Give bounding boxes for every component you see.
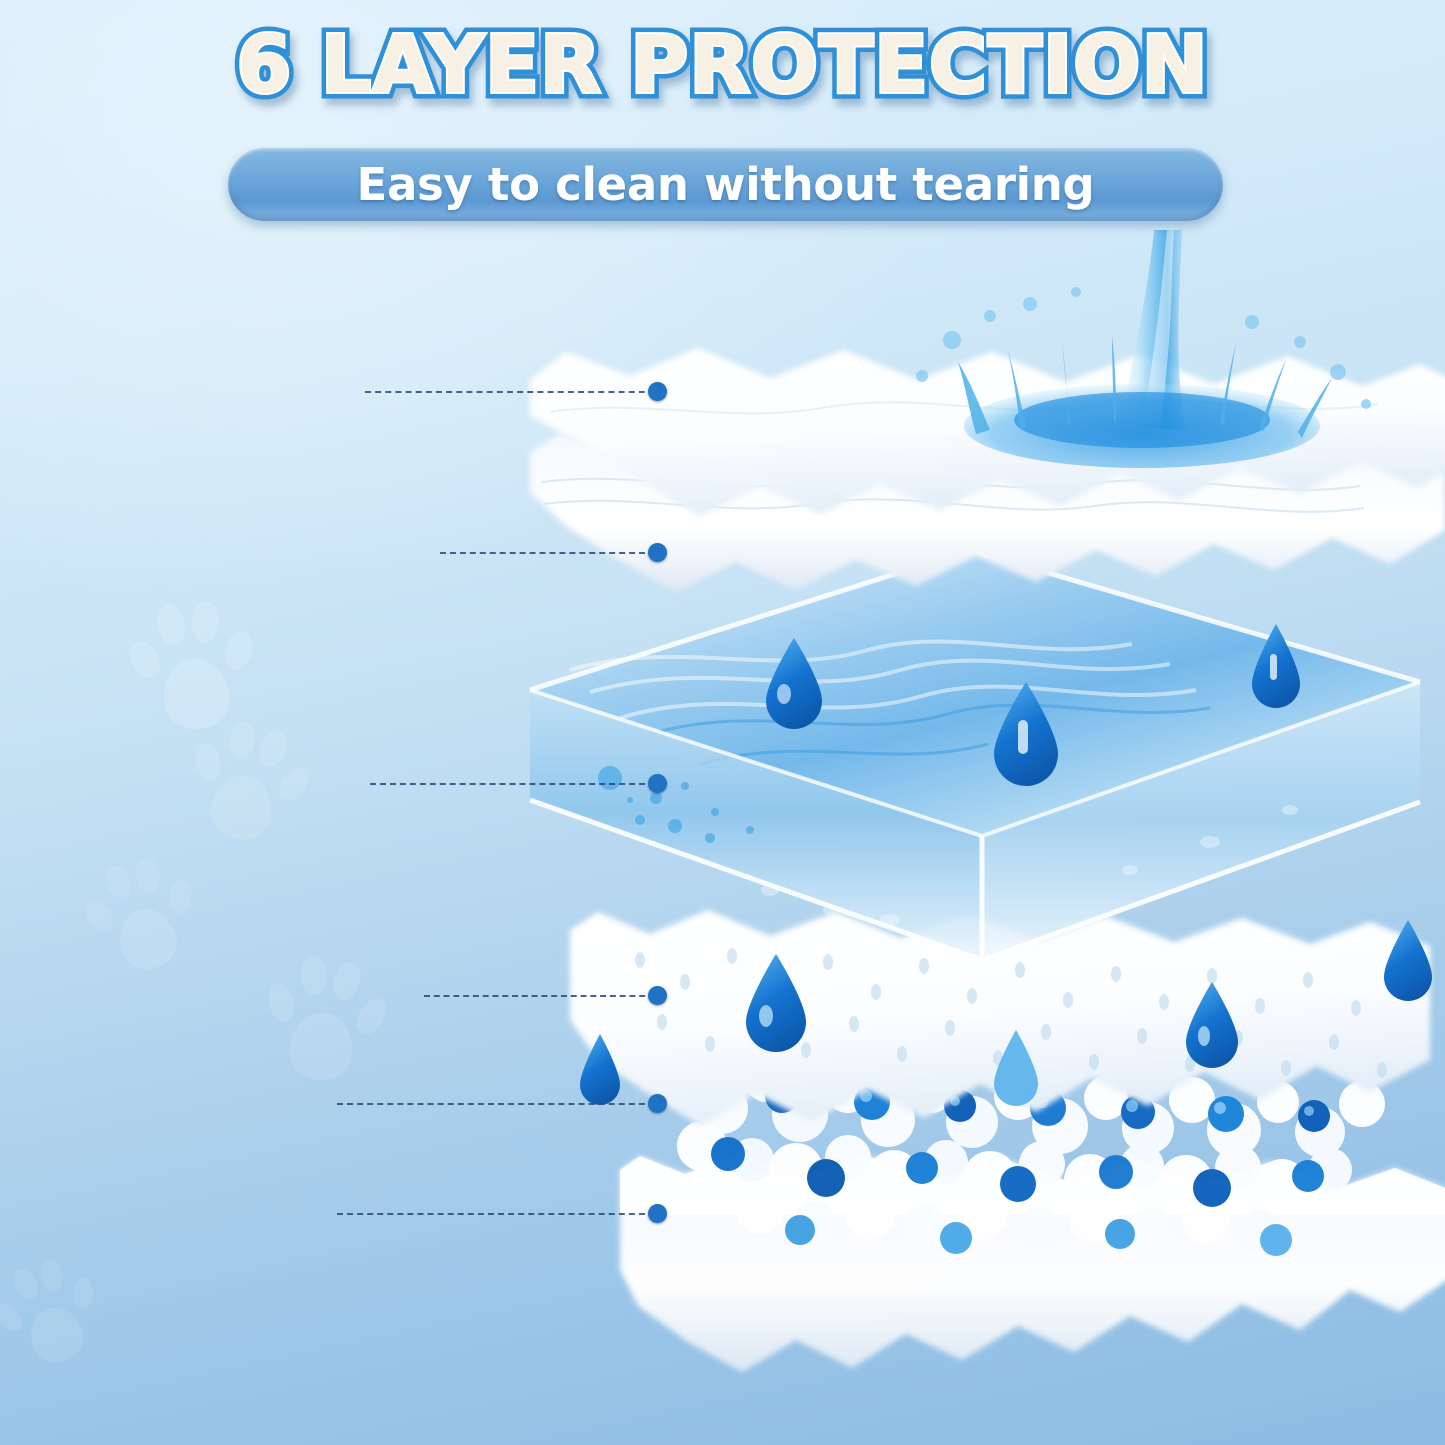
paw-toe-icon	[101, 861, 135, 902]
paw-toe-icon	[153, 601, 189, 648]
callout-dot	[648, 986, 667, 1005]
product-layers-illustration	[470, 230, 1445, 1445]
paw-pad-icon	[22, 1300, 90, 1369]
layer-ultra-absorbent-polymer	[530, 550, 1420, 960]
paw-toe-icon	[221, 628, 257, 674]
paw-toe-icon	[191, 600, 219, 643]
page-title: 6 LAYER PROTECTION	[0, 26, 1445, 105]
paw-toe-icon	[273, 762, 314, 806]
paw-toe-icon	[9, 1265, 42, 1303]
subtitle-text: Easy to clean without tearing	[357, 158, 1095, 211]
infographic-canvas: 6 LAYER PROTECTION 6 LAYER PROTECTION 6 …	[0, 0, 1445, 1445]
paw-toe-icon	[351, 993, 392, 1039]
callout-dot	[648, 774, 667, 793]
paw-pad-icon	[286, 1010, 356, 1083]
paw-toe-icon	[80, 896, 118, 936]
paw-pad-icon	[206, 770, 278, 845]
callout-leader-line	[424, 995, 655, 997]
paw-toe-icon	[0, 1299, 27, 1335]
callout-leader-line	[337, 1213, 655, 1215]
callout-dot	[648, 1204, 667, 1223]
callout-dot	[648, 382, 667, 401]
paw-toe-icon	[264, 981, 299, 1025]
paw-toe-icon	[254, 726, 291, 771]
callout-dot	[648, 1094, 667, 1113]
paw-toe-icon	[329, 958, 365, 1004]
paw-toe-icon	[134, 857, 161, 894]
paw-print-watermark	[0, 1244, 117, 1389]
paw-toe-icon	[167, 878, 194, 915]
paw-toe-icon	[38, 1258, 64, 1293]
callout-dot	[648, 543, 667, 562]
paw-print-watermark	[255, 946, 393, 1102]
paw-toe-icon	[124, 636, 167, 684]
paw-toe-icon	[193, 742, 223, 783]
paw-print-watermark	[72, 842, 213, 995]
callout-leader-line	[365, 391, 655, 393]
paw-toe-icon	[72, 1278, 94, 1310]
callout-leader-line	[440, 552, 655, 554]
paw-toe-icon	[301, 956, 327, 996]
callout-leader-line	[337, 1103, 655, 1105]
paw-toe-icon	[228, 720, 257, 760]
callout-leader-line	[370, 783, 655, 785]
paw-pad-icon	[112, 902, 182, 975]
subtitle-banner: Easy to clean without tearing	[228, 148, 1223, 221]
